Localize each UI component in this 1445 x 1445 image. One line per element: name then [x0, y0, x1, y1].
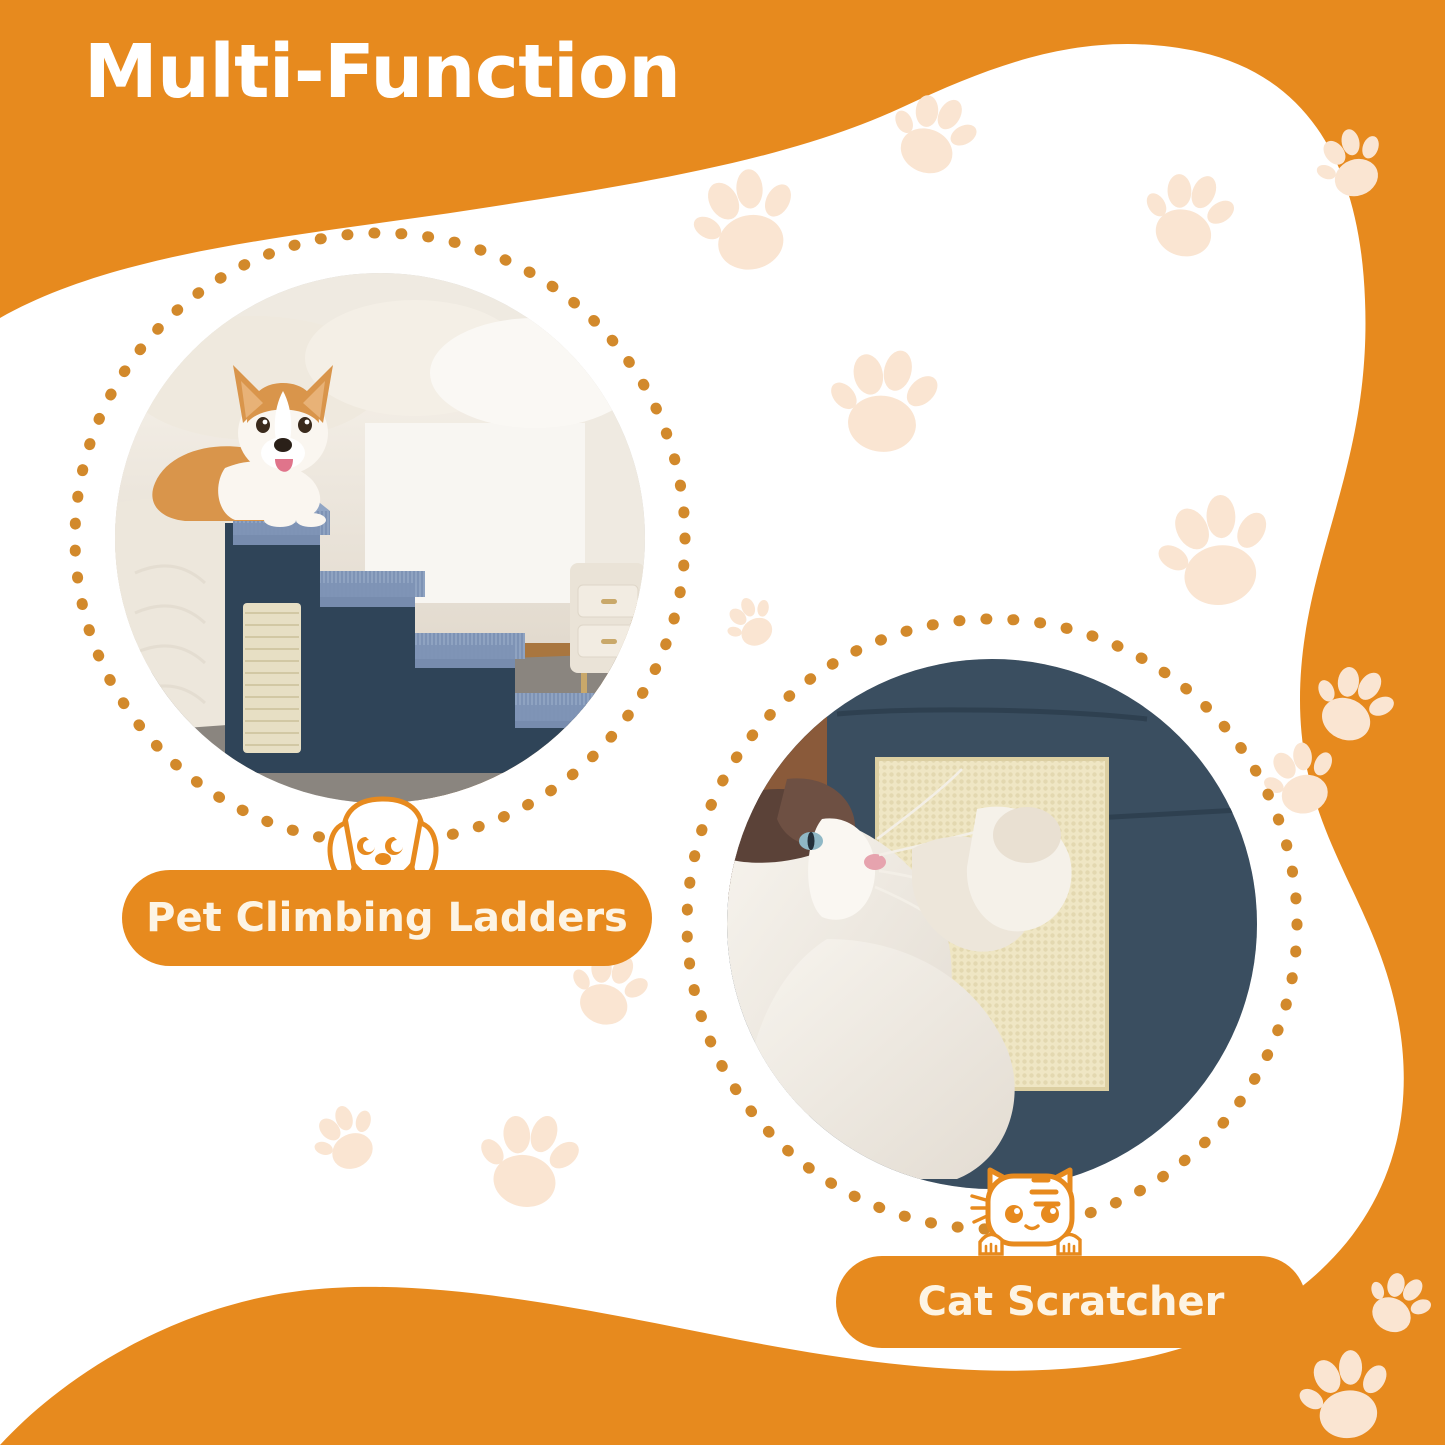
photo-pet-climbing-ladders: [115, 273, 645, 803]
feature-card-cat-scratcher: [672, 604, 1312, 1244]
page-title: Multi-Function: [84, 34, 681, 112]
infographic-canvas: Multi-Function: [0, 0, 1445, 1445]
cat-icon: [970, 1154, 1090, 1264]
photo-cat-scratcher: [727, 659, 1257, 1189]
badge-cat-scratcher[interactable]: Cat Scratcher: [836, 1256, 1306, 1348]
badge-label-pet-climbing-ladders: Pet Climbing Ladders: [146, 895, 628, 941]
feature-card-pet-climbing-ladders: [60, 218, 700, 858]
badge-label-cat-scratcher: Cat Scratcher: [918, 1279, 1225, 1325]
badge-pet-climbing-ladders[interactable]: Pet Climbing Ladders: [122, 870, 652, 966]
